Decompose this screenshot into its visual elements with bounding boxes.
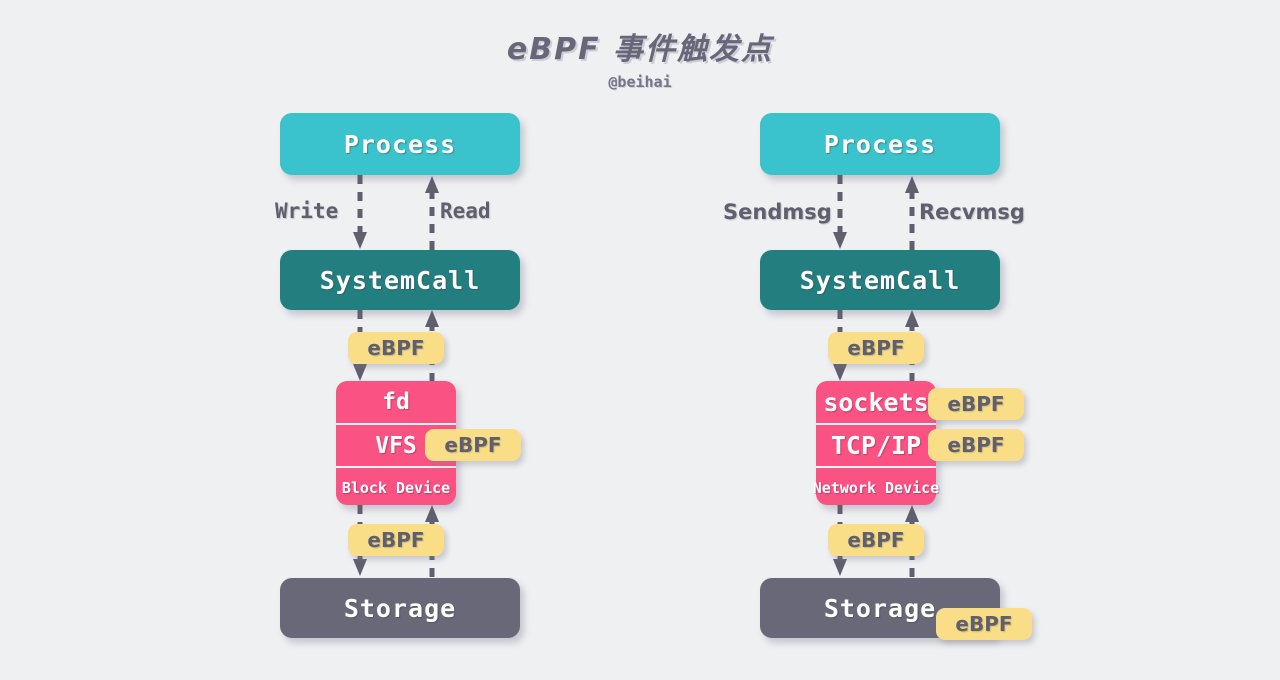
page-title: eBPF 事件触发点	[0, 24, 1280, 68]
flow-label-sendmsg: Sendmsg	[723, 200, 832, 224]
ebpf-badge-stack-storage-file-io: eBPF	[348, 524, 444, 556]
stack-row-sockets: sockets	[816, 381, 936, 423]
kernel-stack-network-io: sockets TCP/IP Network Device	[816, 381, 936, 505]
ebpf-badge-vfs-file-io: eBPF	[425, 429, 521, 461]
storage-box-file-io: Storage	[280, 578, 520, 638]
syscall-box-file-io: SystemCall	[280, 250, 520, 310]
process-box-network-io: Process	[760, 113, 1000, 175]
diagram-canvas: eBPF 事件触发点 @beihai Process Write Read Sy…	[0, 0, 1280, 680]
syscall-box-network-io: SystemCall	[760, 250, 1000, 310]
ebpf-badge-stack-storage-network-io: eBPF	[828, 524, 924, 556]
ebpf-badge-syscall-stack-file-io: eBPF	[348, 332, 444, 364]
stack-row-tcpip: TCP/IP	[816, 423, 936, 466]
ebpf-badge-syscall-stack-network-io: eBPF	[828, 332, 924, 364]
connector-process-syscall-network-io	[820, 175, 930, 250]
ebpf-badge-storage-corner-network-io: eBPF	[936, 608, 1032, 640]
ebpf-badge-sockets-network-io: eBPF	[928, 388, 1024, 420]
ebpf-badge-tcpip-network-io: eBPF	[928, 429, 1024, 461]
stack-row-block-device: Block Device	[336, 466, 456, 507]
flow-label-write: Write	[275, 199, 338, 223]
author-credit: @beihai	[0, 73, 1280, 91]
flow-label-recvmsg: Recvmsg	[919, 200, 1025, 224]
stack-row-fd: fd	[336, 381, 456, 423]
connector-process-syscall-file-io	[340, 175, 450, 250]
process-box-file-io: Process	[280, 113, 520, 175]
stack-row-network-device: Network Device	[816, 466, 936, 507]
flow-label-read: Read	[440, 199, 491, 223]
